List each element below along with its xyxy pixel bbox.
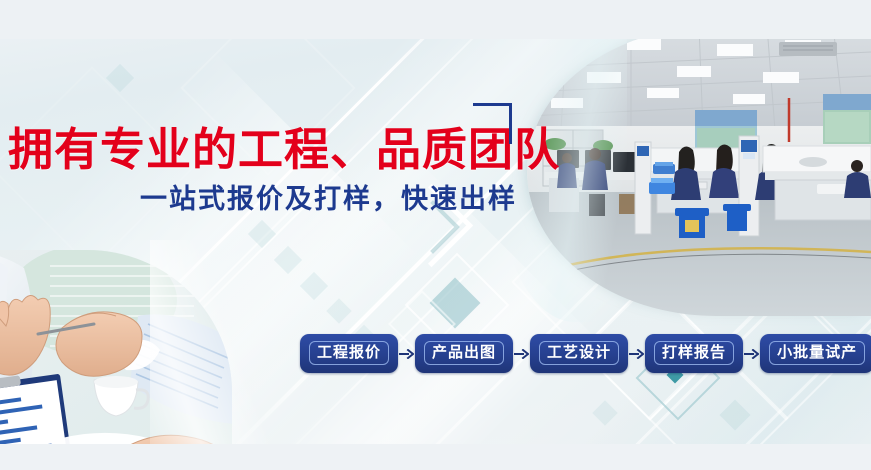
arrow-right-icon bbox=[398, 343, 415, 365]
process-step-1[interactable]: 工程报价 bbox=[300, 334, 398, 373]
process-step-4[interactable]: 打样报告 bbox=[645, 334, 743, 373]
office-photo-art bbox=[527, 26, 871, 316]
process-flow: 工程报价 产品出图 工艺设计 打样报告 小批量试产 批量量产 bbox=[300, 334, 871, 373]
arrow-right-icon bbox=[743, 343, 760, 365]
meeting-photo bbox=[0, 250, 232, 470]
process-step-3[interactable]: 工艺设计 bbox=[530, 334, 628, 373]
bottom-band bbox=[0, 444, 871, 470]
page-subtitle: 一站式报价及打样，快速出样 bbox=[140, 183, 517, 215]
meeting-scene-illustration bbox=[0, 250, 232, 470]
process-step-label: 打样报告 bbox=[654, 341, 734, 365]
process-step-label: 工程报价 bbox=[309, 341, 389, 365]
office-scene-illustration bbox=[527, 26, 871, 316]
top-band bbox=[0, 0, 871, 39]
process-step-2[interactable]: 产品出图 bbox=[415, 334, 513, 373]
arrow-right-icon bbox=[513, 343, 530, 365]
meeting-photo-art bbox=[0, 250, 232, 470]
process-step-label: 小批量试产 bbox=[769, 341, 865, 365]
arrow-right-icon bbox=[628, 343, 645, 365]
process-step-label: 工艺设计 bbox=[539, 341, 619, 365]
corner-bracket-icon bbox=[473, 103, 512, 144]
office-photo bbox=[527, 26, 871, 316]
process-step-label: 产品出图 bbox=[424, 341, 504, 365]
promo-banner: 拥有专业的工程、品质团队 一站式报价及打样，快速出样 工程报价 产品出图 工艺设… bbox=[0, 0, 871, 470]
process-step-5[interactable]: 小批量试产 bbox=[760, 334, 871, 373]
